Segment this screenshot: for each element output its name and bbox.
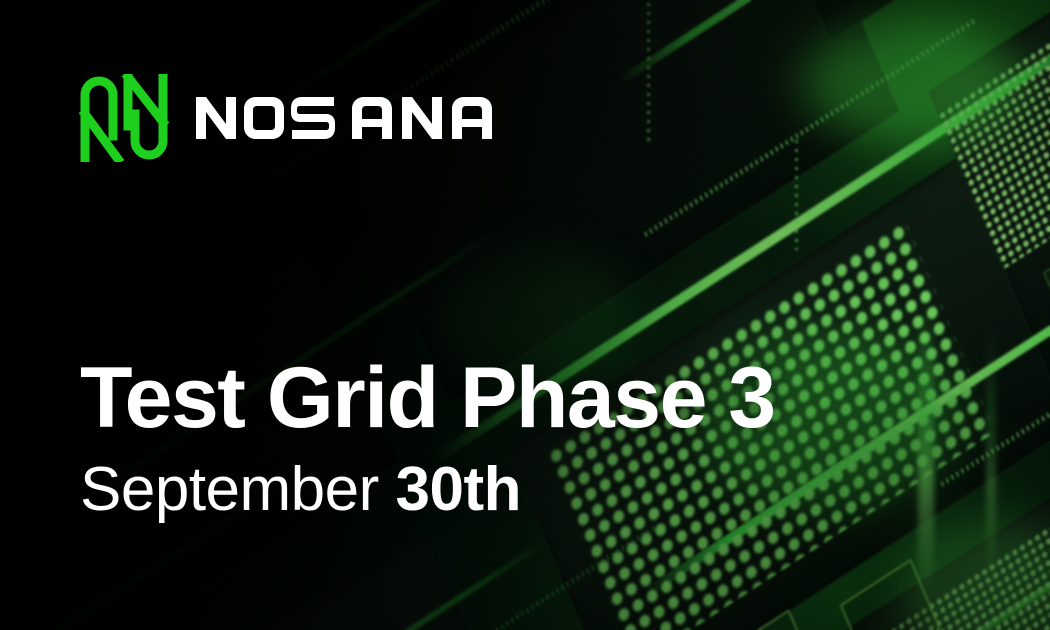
nosana-wordmark [196, 93, 496, 143]
nosana-logo-mark-icon [78, 74, 170, 162]
page-title: Test Grid Phase 3 [80, 355, 775, 441]
event-date: September 30th [80, 459, 775, 521]
banner-content: Test Grid Phase 3 September 30th [0, 0, 1050, 630]
headline-block: Test Grid Phase 3 September 30th [80, 355, 775, 521]
event-date-month: September [80, 455, 396, 524]
brand-lockup [78, 74, 496, 162]
nosana-event-banner: Test Grid Phase 3 September 30th [0, 0, 1050, 630]
event-date-day: 30th [396, 455, 521, 524]
